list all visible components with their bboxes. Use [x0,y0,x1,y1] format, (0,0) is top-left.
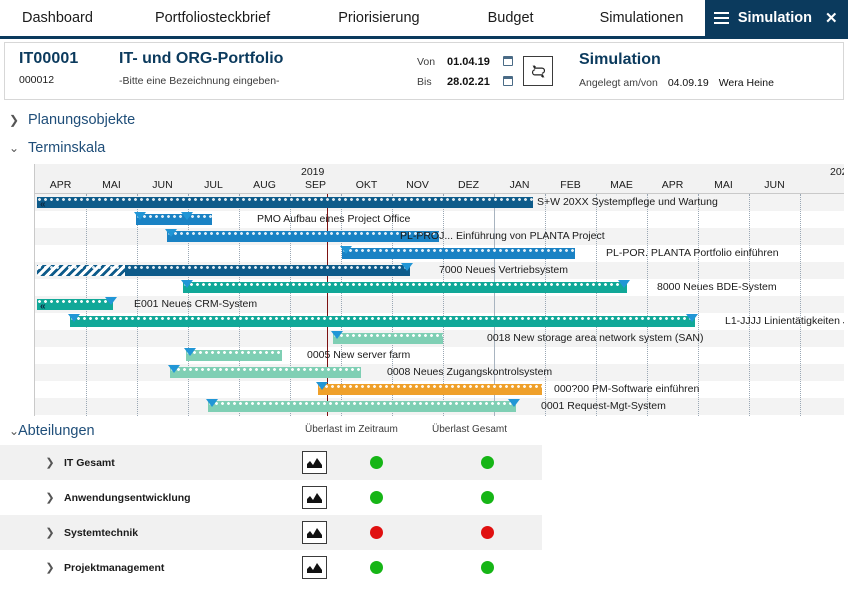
section-planungsobjekte[interactable]: ❯ Planungsobjekte [0,107,848,133]
gantt-bar[interactable] [342,248,575,259]
gantt-bar[interactable] [70,316,695,327]
gantt-row[interactable] [35,347,844,364]
date-range-block: Von 01.04.19 Bis 28.02.21 [417,43,517,99]
gantt-gridline [290,194,291,416]
gantt-bar[interactable] [318,384,542,395]
gantt-chart[interactable]: 20192020APRMAIJUNJULAUGSEPOKTNOVDEZJANFE… [34,164,844,416]
gantt-bar-progress-dots [170,367,361,372]
gantt-bar[interactable] [37,265,410,276]
bar-chart-button[interactable] [302,451,327,474]
von-value[interactable]: 01.04.19 [447,56,503,68]
gantt-month-label: JUN [749,179,800,191]
gantt-timescale-header: 20192020APRMAIJUNJULAUGSEPOKTNOVDEZJANFE… [35,164,844,194]
gantt-milestone-marker[interactable] [508,399,520,407]
chevron-right-icon[interactable]: ❯ [9,113,18,127]
abteilung-row[interactable]: ❯Anwendungsentwicklung [0,480,542,515]
gantt-milestone-marker[interactable] [134,212,146,220]
gantt-bar-progress-dots [37,265,410,270]
gantt-month-label: MAE [596,179,647,191]
gantt-bar-label: L1-JJJJ Linientätigkeiten JJJJ [725,315,844,327]
portfolio-name-block: IT- und ORG-Portfolio -Bitte eine Bezeic… [109,43,409,99]
portfolio-id-block: IT00001 000012 [5,43,109,99]
gantt-bar-label: PL-PROJ... Einführung von PLANTA Project [400,230,605,242]
section-abteilungen[interactable]: ⌄ Abteilungen Überlast im Zeitraum Überl… [0,419,848,443]
gantt-milestone-marker[interactable] [168,365,180,373]
abteilung-row[interactable]: ❯Projektmanagement [0,550,542,585]
close-icon[interactable]: ✕ [825,11,838,26]
status-dot-ueberlast-zeitraum[interactable] [370,561,383,574]
bis-value[interactable]: 28.02.21 [447,76,503,88]
gantt-bar-label: PL-POR. PLANTA Portfolio einführen [606,247,779,259]
tab-simulationen-label: Simulationen [600,10,684,26]
bar-chart-icon [306,561,323,574]
status-dot-ueberlast-gesamt[interactable] [481,561,494,574]
chevron-down-icon[interactable]: ⌄ [9,424,18,438]
gantt-bar-label: S+W 20XX Systempflege und Wartung [537,196,718,208]
calendar-icon[interactable] [503,76,513,86]
simulation-info-block: Simulation Angelegt am/von 04.09.19 Wera… [579,43,774,99]
tab-priorisierung-label: Priorisierung [338,10,419,26]
abteilung-name: IT Gesamt [64,457,264,469]
gantt-milestone-marker[interactable] [618,280,630,288]
gantt-milestone-marker[interactable] [686,314,698,322]
gantt-bar-label: 0008 Neues Zugangskontrolsystem [387,366,552,378]
gantt-bar[interactable] [167,231,439,242]
gantt-bar-progress-dots [186,350,282,355]
gantt-bar[interactable] [186,350,282,361]
portfolio-name-placeholder[interactable]: -Bitte eine Bezeichnung eingeben- [119,75,409,87]
gantt-month-label: NOV [392,179,443,191]
gantt-bar[interactable] [136,214,212,225]
gantt-milestone-marker[interactable] [184,348,196,356]
gantt-month-label: OKT [341,179,392,191]
col-header-ueberlast-gesamt: Überlast Gesamt [432,424,507,435]
gantt-year-label: 2020 [830,166,844,178]
gantt-milestone-marker[interactable] [181,212,193,220]
col-header-ueberlast-zeitraum: Überlast im Zeitraum [305,424,398,435]
portfolio-header: IT00001 000012 IT- und ORG-Portfolio -Bi… [4,42,844,100]
gantt-month-label: AUG [239,179,290,191]
gantt-month-label: JUN [137,179,188,191]
gantt-bar-progress-dots [342,248,575,253]
gantt-gridline [494,194,495,416]
created-date: 04.09.19 [668,77,709,89]
tab-dashboard[interactable]: Dashboard [0,0,133,36]
gantt-bar[interactable] [208,401,516,412]
gantt-month-label: FEB [545,179,596,191]
gantt-bar[interactable]: « [37,299,113,310]
gantt-bar-label: 7000 Neues Vertriebsystem [439,264,568,276]
gantt-gridline [341,194,342,416]
portfolio-name[interactable]: IT- und ORG-Portfolio [119,50,409,68]
gantt-bar-progress-dots [37,197,533,202]
section-abteilungen-label: Abteilungen [18,423,95,439]
gantt-bar-progress-dots [333,333,443,338]
abteilung-row[interactable]: ❯Systemtechnik [0,515,542,550]
tab-budget-label: Budget [488,10,534,26]
gantt-month-label: JUL [188,179,239,191]
bar-chart-icon [306,491,323,504]
gantt-milestone-marker[interactable] [401,263,413,271]
gantt-bar-progress-dots [70,316,695,321]
status-dot-ueberlast-zeitraum[interactable] [370,456,383,469]
status-dot-ueberlast-zeitraum[interactable] [370,526,383,539]
gantt-milestone-marker[interactable] [206,399,218,407]
gantt-bar-label: PMO Aufbau eines Project Office [257,213,410,225]
status-dot-ueberlast-gesamt[interactable] [481,491,494,504]
chevron-down-icon[interactable]: ⌄ [9,141,18,155]
simulation-title: Simulation [579,51,774,69]
status-dot-ueberlast-zeitraum[interactable] [370,491,383,504]
tab-portfoliosteckbrief[interactable]: Portfoliosteckbrief [133,0,316,36]
gantt-bar[interactable] [183,282,627,293]
refresh-button[interactable] [523,56,553,86]
abteilungen-list: ❯IT Gesamt❯Anwendungsentwicklung❯Systemt… [0,445,848,585]
section-planungsobjekte-label: Planungsobjekte [28,112,135,128]
gantt-month-label: SEP [290,179,341,191]
status-dot-ueberlast-gesamt[interactable] [481,526,494,539]
gantt-gridline [545,194,546,416]
gantt-milestone-marker[interactable] [165,229,177,237]
gantt-bar-progress-dots [37,299,113,304]
bis-label: Bis [417,76,447,88]
gantt-gridline [443,194,444,416]
gantt-milestone-marker[interactable] [105,297,117,305]
bar-chart-icon [306,456,323,469]
gantt-milestone-marker[interactable] [181,280,193,288]
tab-simulation-active[interactable]: Simulation ✕ [705,0,848,36]
calendar-icon[interactable] [503,56,513,66]
created-label: Angelegt am/von [579,77,658,89]
gantt-gridline [392,194,393,416]
tab-dashboard-label: Dashboard [22,10,93,26]
portfolio-id: IT00001 [19,50,109,68]
gantt-month-label: APR [35,179,86,191]
gantt-bar-progress-dots [208,401,516,406]
gantt-month-label: DEZ [443,179,494,191]
tab-priorisierung[interactable]: Priorisierung [316,0,465,36]
gantt-gridline [800,194,801,416]
gantt-row[interactable] [35,415,844,416]
abteilung-row[interactable]: ❯IT Gesamt [0,445,542,480]
gantt-milestone-marker[interactable] [316,382,328,390]
gantt-bar-label: 0018 New storage area network system (SA… [487,332,704,344]
chevron-right-icon[interactable]: ❯ [42,491,58,504]
gantt-bar-progress-dots [318,384,542,389]
gantt-bar-progress-dots [167,231,439,236]
bar-chart-button[interactable] [302,486,327,509]
hamburger-icon[interactable] [714,12,729,24]
bar-chart-icon [306,526,323,539]
gantt-month-label: MAI [698,179,749,191]
von-label: Von [417,56,447,68]
gantt-bar-progress-dots [136,214,212,219]
portfolio-id-sub: 000012 [19,74,109,86]
gantt-bar-label: 8000 Neues BDE-System [657,281,777,293]
gantt-bar-progress-dots [183,282,627,287]
gantt-year-label: 2019 [301,166,324,178]
rewind-icon[interactable]: « [40,301,44,312]
refresh-icon [530,63,547,80]
abteilung-name: Systemtechnik [64,527,264,539]
gantt-bar-label: 0001 Request-Mgt-System [541,400,666,412]
chevron-right-icon[interactable]: ❯ [42,561,58,574]
section-terminskala-label: Terminskala [28,140,105,156]
abteilung-name: Anwendungsentwicklung [64,492,264,504]
gantt-month-label: JAN [494,179,545,191]
status-dot-ueberlast-gesamt[interactable] [481,456,494,469]
gantt-month-label: APR [647,179,698,191]
gantt-bar-label: E001 Neues CRM-System [134,298,257,310]
gantt-milestone-marker[interactable] [340,246,352,254]
gantt-milestone-marker[interactable] [68,314,80,322]
gantt-bar-label: 000?00 PM-Software einführen [554,383,699,395]
tab-bar: Dashboard Portfoliosteckbrief Priorisier… [0,0,848,39]
section-terminskala[interactable]: ⌄ Terminskala [0,135,848,161]
tab-simulation-label: Simulation [738,10,812,26]
rewind-icon[interactable]: « [40,199,44,210]
bar-chart-button[interactable] [302,521,327,544]
tab-budget[interactable]: Budget [466,0,578,36]
gantt-month-label: MAI [86,179,137,191]
tab-simulationen[interactable]: Simulationen [578,0,706,36]
created-by: Wera Heine [719,77,774,89]
gantt-bar[interactable]: « [37,197,533,208]
gantt-bar[interactable] [170,367,361,378]
chevron-right-icon[interactable]: ❯ [42,456,58,469]
abteilung-name: Projektmanagement [64,562,264,574]
gantt-gridline [749,194,750,416]
bar-chart-button[interactable] [302,556,327,579]
gantt-bar[interactable] [333,333,443,344]
tab-portfoliosteckbrief-label: Portfoliosteckbrief [155,10,270,26]
gantt-bar-label: 0005 New server farm [307,349,410,361]
gantt-milestone-marker[interactable] [331,331,343,339]
gantt-rows[interactable]: «S+W 20XX Systempflege und WartungPMO Au… [35,194,844,416]
chevron-right-icon[interactable]: ❯ [42,526,58,539]
